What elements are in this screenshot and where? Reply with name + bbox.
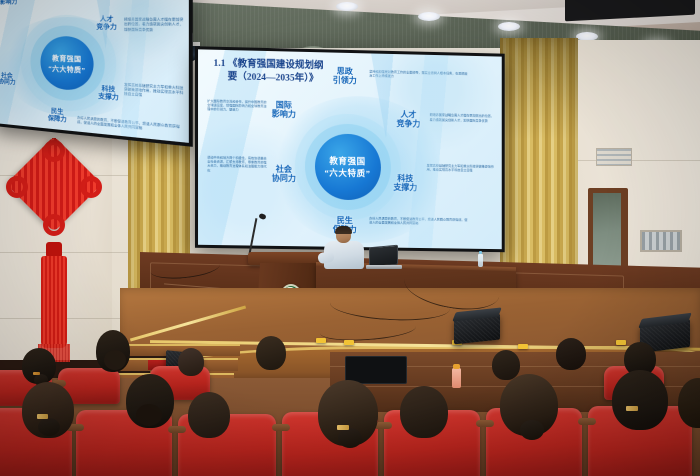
trait-label-guoji: 国际 影响力 <box>0 0 17 7</box>
hair-bun <box>104 350 126 370</box>
floor-tape-marker <box>316 338 326 343</box>
trait-label-rencai: 人才 竞争力 <box>396 110 420 129</box>
trait-label-sizheng: 思政 引领力 <box>333 66 357 85</box>
floor-tape-marker <box>344 340 354 345</box>
core-label-top: 教育强国 <box>329 154 365 167</box>
seat-armrest <box>272 424 290 431</box>
trait-label-minsheng: 民生 保障力 <box>48 109 67 125</box>
trait-desc-sizheng: 坚持和加强党对教育工作的全面领导，落实立德树人根本任务，在思想政治工作上持续发力 <box>369 69 469 80</box>
hair-bun <box>338 428 362 448</box>
trait-desc-keji: 发挥高校基础研究主力军和重大科技突破策源地作用，推动实现高水平科技自立自强 <box>427 163 496 173</box>
audience-seating <box>0 352 700 476</box>
floor-tape-marker <box>518 344 528 349</box>
wall-air-vent-icon <box>640 230 682 252</box>
water-bottle <box>478 254 483 267</box>
core-label-bottom: “六大特质” <box>48 62 85 74</box>
trait-desc-shehui: 调动中央和地方两个积极性，有效协调整合全社会资源，汇聚支持教育、尊重教育的强大合… <box>207 155 268 174</box>
person-head <box>400 386 448 438</box>
hair-clip <box>626 406 638 411</box>
hair-bun <box>38 418 60 436</box>
trait-label-shehui: 社会 协同力 <box>0 73 16 88</box>
auditorium-scene: 教育强国 “六大特质” 社会 协同力 国际 影响力 人才 竞争力 科技 支撑 <box>0 0 700 476</box>
hair-clip <box>37 414 48 419</box>
ceiling-downlight <box>498 22 520 31</box>
seat-armrest <box>168 426 186 433</box>
chinese-knot-decoration <box>8 138 102 368</box>
ceiling-downlight <box>336 2 358 11</box>
slide-title: 1.1 《教育强国建设规划纲 要（2024—2035年）》 <box>213 58 402 88</box>
trait-label-keji: 科技 支撑力 <box>98 86 119 103</box>
trait-desc-minsheng: 办好人民满意的教育，不断促进教育公平，增进人民群众教育获得感，促进人的全面发展和… <box>369 216 469 226</box>
knot-loop <box>43 140 65 162</box>
trait-desc-minsheng: 办好人民满意的教育，不断促进教育公平，增进人民群众教育获得感，促进人的全面发展和… <box>77 115 180 134</box>
trait-label-shehui: 社会 协同力 <box>272 164 296 183</box>
slide-main: 1.1 《教育强国建设规划纲 要（2024—2035年）》 教育强国 “六大特质… <box>198 49 502 249</box>
knot-loop <box>43 214 65 236</box>
person-head <box>612 370 668 430</box>
seat-armrest <box>476 420 494 427</box>
knot-loop <box>6 176 28 198</box>
slide-title-line2: 要（2024—2035年）》 <box>213 70 402 87</box>
knot-loop <box>80 176 102 198</box>
trait-desc-rencai: 把培养国家战略急需人才摆在更加突出的位置，着力造就拔尖创新人才，加快国际竞争优势 <box>124 17 184 32</box>
knot-tassel <box>41 256 67 348</box>
presenter-hair <box>335 226 352 234</box>
ceiling-downlight <box>418 12 440 21</box>
person-head <box>492 350 520 380</box>
wall-air-vent-icon <box>596 148 632 166</box>
projection-screen-main: 1.1 《教育强国建设规划纲 要（2024—2035年）》 教育强国 “六大特质… <box>195 46 505 252</box>
screen-main-display: 1.1 《教育强国建设规划纲 要（2024—2035年）》 教育强国 “六大特质… <box>198 49 502 249</box>
trait-desc-keji: 发挥高校基础研究主力军和重大科技突破策源地作用，推动实现高水平科技自立自强 <box>124 82 184 100</box>
seat-armrest <box>578 418 596 425</box>
trait-label-rencai: 人才 竞争力 <box>96 17 117 32</box>
slide-left: 教育强国 “六大特质” 社会 协同力 国际 影响力 人才 竞争力 科技 支撑 <box>0 0 189 143</box>
trait-label-guoji: 国际 影响力 <box>272 100 296 119</box>
trait-desc-rencai: 把培养国家战略急需人才摆在更加突出的位置，着力造就拔尖创新人才，加快国际竞争优势 <box>430 113 496 123</box>
trait-desc-guoji: 扩大国际教育交流和合作，提升中国教育的全球适应度，增强国际影响力和全球教育治理中… <box>207 98 268 112</box>
hair-clip <box>33 372 40 375</box>
projection-screen-left: 教育强国 “六大特质” 社会 协同力 国际 影响力 人才 竞争力 科技 支撑 <box>0 0 193 147</box>
stage-monitor-speaker <box>454 314 500 345</box>
person-head <box>556 338 586 370</box>
hair-clip <box>337 425 349 430</box>
hair-bun <box>520 420 544 440</box>
person-head <box>178 348 204 376</box>
hair-bun <box>136 404 162 426</box>
person-head <box>188 392 230 438</box>
screen-left-display: 教育强国 “六大特质” 社会 协同力 国际 影响力 人才 竞争力 科技 支撑 <box>0 0 189 143</box>
core-label-bottom: “六大特质” <box>324 167 370 181</box>
presenter-laptop[interactable] <box>369 245 398 268</box>
trait-label-keji: 科技 支撑力 <box>393 174 417 193</box>
floor-tape-marker <box>616 340 626 345</box>
person-head <box>256 336 286 370</box>
laptop-keyboard-base <box>366 265 402 269</box>
